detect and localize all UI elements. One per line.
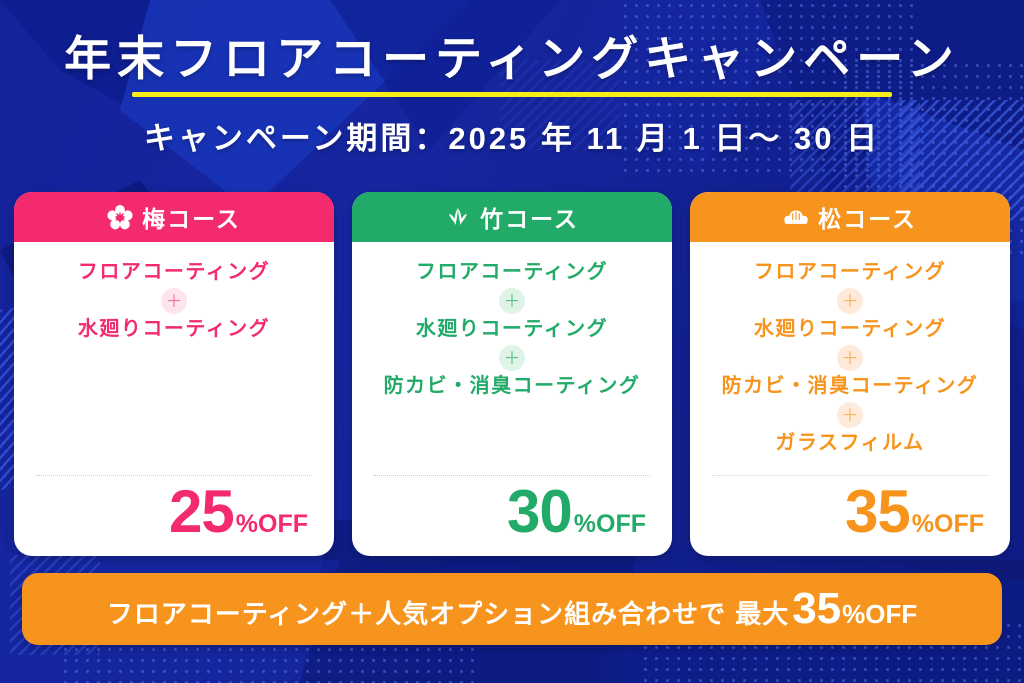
bottom-offer-number: 35 <box>792 584 841 634</box>
course-card-bamboo-body: フロアコーティング ＋ 水廻りコーティング ＋ 防カビ・消臭コーティング <box>352 242 672 475</box>
plus-badge: ＋ <box>499 345 525 371</box>
discount-unit: %OFF <box>912 512 984 537</box>
discount-block: 25 %OFF <box>36 482 312 542</box>
feature-item: 水廻りコーティング <box>416 317 608 342</box>
feature-item: フロアコーティング <box>416 260 608 285</box>
course-card-pine-header: 松コース <box>690 192 1010 242</box>
feature-item: 水廻りコーティング <box>78 317 270 342</box>
course-card-pine[interactable]: 松コース フロアコーティング ＋ 水廻りコーティング ＋ 防カビ・消臭コーティン… <box>690 192 1010 556</box>
discount-number: 30 <box>507 482 572 542</box>
plum-blossom-icon <box>107 204 133 230</box>
bottom-offer-max-label: 最大 <box>735 594 789 631</box>
course-card-plum-title: 梅コース <box>142 200 241 234</box>
bottom-offer-lead: フロアコーティング＋人気オプション組み合わせで <box>107 594 726 631</box>
bamboo-leaf-icon <box>445 204 471 230</box>
course-card-pine-footer: 35 %OFF <box>690 475 1010 556</box>
discount-block: 30 %OFF <box>374 482 650 542</box>
course-card-pine-body: フロアコーティング ＋ 水廻りコーティング ＋ 防カビ・消臭コーティング ＋ ガ… <box>690 242 1010 475</box>
course-card-bamboo-footer: 30 %OFF <box>352 475 672 556</box>
pine-icon <box>783 204 809 230</box>
discount-block: 35 %OFF <box>712 482 988 542</box>
course-card-list: 梅コース フロアコーティング ＋ 水廻りコーティング 25 %OFF <box>14 192 1010 556</box>
banner-header: 年末フロアコーティングキャンペーン キャンペーン期間：2025 年 11 月 1… <box>0 0 1024 158</box>
feature-item: ガラスフィルム <box>775 431 924 456</box>
course-card-plum-header: 梅コース <box>14 192 334 242</box>
footer-divider <box>712 475 988 476</box>
plus-badge: ＋ <box>499 288 525 314</box>
discount-unit: %OFF <box>574 512 646 537</box>
discount-unit: %OFF <box>236 512 308 537</box>
plus-badge: ＋ <box>837 402 863 428</box>
feature-item: 防カビ・消臭コーティング <box>384 374 641 399</box>
feature-item: 水廻りコーティング <box>754 317 946 342</box>
feature-item: 防カビ・消臭コーティング <box>722 374 979 399</box>
bottom-offer-unit: %OFF <box>842 599 917 630</box>
plus-badge: ＋ <box>161 288 187 314</box>
course-card-bamboo-header: 竹コース <box>352 192 672 242</box>
page-title: 年末フロアコーティングキャンペーン <box>0 0 1024 86</box>
feature-item: フロアコーティング <box>754 260 946 285</box>
feature-item: フロアコーティング <box>78 260 270 285</box>
course-card-pine-title: 松コース <box>818 200 917 234</box>
course-card-plum[interactable]: 梅コース フロアコーティング ＋ 水廻りコーティング 25 %OFF <box>14 192 334 556</box>
course-card-plum-body: フロアコーティング ＋ 水廻りコーティング <box>14 242 334 475</box>
plus-badge: ＋ <box>837 345 863 371</box>
title-underline <box>132 92 892 97</box>
course-card-plum-footer: 25 %OFF <box>14 475 334 556</box>
plus-badge: ＋ <box>837 288 863 314</box>
discount-number: 25 <box>169 482 234 542</box>
bottom-offer-banner[interactable]: フロアコーティング＋人気オプション組み合わせで 最大 35 %OFF <box>22 573 1002 645</box>
discount-number: 35 <box>845 482 910 542</box>
footer-divider <box>36 475 312 476</box>
footer-divider <box>374 475 650 476</box>
campaign-period: キャンペーン期間：2025 年 11 月 1 日〜 30 日 <box>0 113 1024 158</box>
course-card-bamboo-title: 竹コース <box>480 200 579 234</box>
campaign-banner: 年末フロアコーティングキャンペーン キャンペーン期間：2025 年 11 月 1… <box>0 0 1024 683</box>
course-card-bamboo[interactable]: 竹コース フロアコーティング ＋ 水廻りコーティング ＋ 防カビ・消臭コーティン… <box>352 192 672 556</box>
bottom-offer-text: フロアコーティング＋人気オプション組み合わせで 最大 35 %OFF <box>107 584 918 634</box>
